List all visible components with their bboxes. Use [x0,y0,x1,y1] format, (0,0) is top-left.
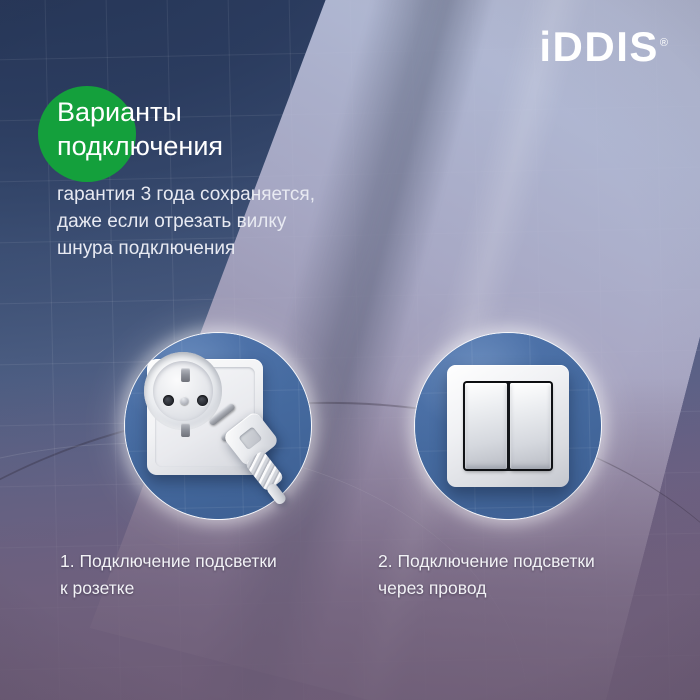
socket-earth-clip-top [181,368,190,382]
page-subtitle: гарантия 3 года сохраняется, даже если о… [57,181,397,262]
socket-earth-clip-bottom [181,423,190,437]
promo-banner: iDDIS® Варианты подключения гарантия 3 г… [0,0,700,700]
option-1-photo-disc [124,332,312,520]
light-switch-faceplate [447,365,569,487]
light-switch-recess [463,381,553,471]
option-1-caption: 1. Подключение подсветки к розетке [60,548,360,602]
logo-wordmark: DDIS [553,23,659,70]
logo-lead-letter: i [539,23,552,70]
option-2-photo-disc [414,332,602,520]
socket-center-screw [180,396,189,405]
rocker-right [510,383,552,469]
page-title: Варианты подключения [57,95,387,163]
option-2-caption: 2. Подключение подсветки через провод [378,548,678,602]
socket-pin-hole-right [197,395,208,406]
registered-mark-icon: ® [660,37,668,49]
socket-pin-hole-left [163,395,174,406]
rocker-left [465,383,507,469]
iddis-logo: iDDIS® [539,26,668,68]
